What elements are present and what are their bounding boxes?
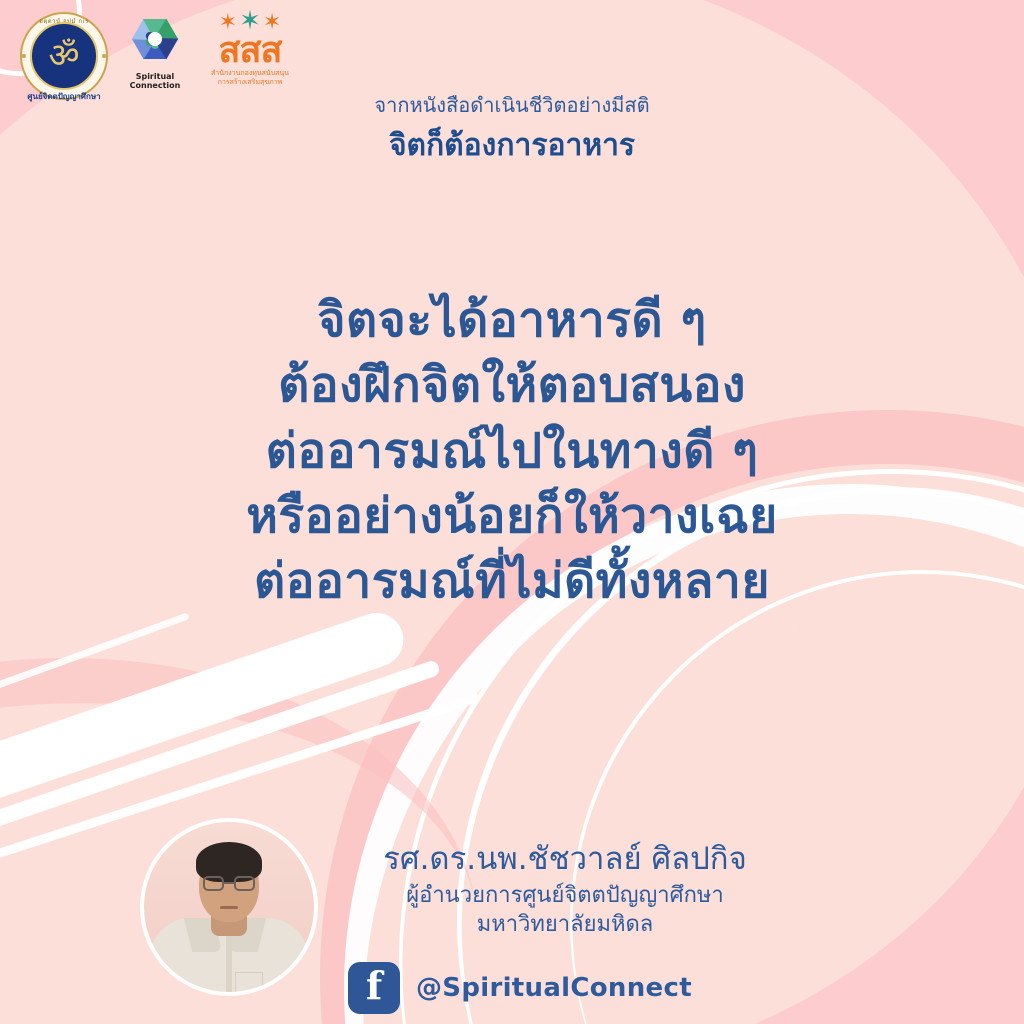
facebook-icon[interactable]: f xyxy=(348,962,400,1014)
speaker-portrait xyxy=(140,818,318,996)
quote-line: ต่ออารมณ์ไปในทางดี ๆ xyxy=(0,419,1024,484)
speaker-role: ผู้อำนวยการศูนย์จิตตปัญญาศึกษา xyxy=(330,881,800,911)
poster-canvas: อตฺตานํ อุปมํ กเร ॐ ศูนย์จิตตปัญญาศึกษา xyxy=(0,0,1024,1024)
portrait-ring xyxy=(140,818,318,996)
quote-line: หรืออย่างน้อยก็ให้วางเฉย xyxy=(0,484,1024,549)
seal-dot-left xyxy=(22,54,26,58)
quote-block: จิตจะได้อาหารดี ๆ ต้องฝึกจิตให้ตอบสนอง ต… xyxy=(0,288,1024,614)
speaker-credit: รศ.ดร.นพ.ชัชวาลย์ ศิลปกิจ ผู้อำนวยการศูน… xyxy=(330,840,800,940)
facebook-handle[interactable]: @SpiritualConnect xyxy=(416,973,692,1003)
spiritual-connection-pinwheel-icon xyxy=(124,8,186,70)
mahidol-university-seal-icon: อตฺตานํ อุปมํ กเร ॐ ศูนย์จิตตปัญญาศึกษา xyxy=(16,8,112,104)
facebook-link[interactable]: f @SpiritualConnect xyxy=(348,962,692,1014)
sc-label-line1: Spiritual xyxy=(130,72,181,81)
thaihealth-wordmark: สสส xyxy=(219,34,282,68)
sc-label-line2: Connection xyxy=(130,81,181,90)
quote-line: ต้องฝึกจิตให้ตอบสนอง xyxy=(0,353,1024,418)
seal-caption: ศูนย์จิตตปัญญาศึกษา xyxy=(16,90,112,103)
seal-dot-right xyxy=(102,54,106,58)
quote-line: จิตจะได้อาหารดี ๆ xyxy=(0,288,1024,353)
thaihealth-subtitle: สำนักงานกองทุนสนับสนุน การสร้างเสริมสุขภ… xyxy=(211,69,289,87)
seal-emblem-icon: ॐ xyxy=(48,39,79,73)
page-title: จิตก็ต้องการอาหาร xyxy=(0,126,1024,165)
seal-inner-disc: ॐ xyxy=(30,22,98,90)
spiritual-connection-label: Spiritual Connection xyxy=(130,72,181,90)
thaihealth-sub-line2: การสร้างเสริมสุขภาพ xyxy=(211,78,289,87)
mahidol-seal-logo: อตฺตานํ อุปมํ กเร ॐ ศูนย์จิตตปัญญาศึกษา xyxy=(16,8,112,104)
thaihealth-logo: ✶ ✶ ✶ สสส สำนักงานกองทุนสนับสนุน การสร้า… xyxy=(198,8,302,108)
pinwheel-svg xyxy=(124,8,186,70)
thaihealth-sub-line1: สำนักงานกองทุนสนับสนุน xyxy=(211,69,289,78)
logo-row: อตฺตานํ อุปมํ กเร ॐ ศูนย์จิตตปัญญาศึกษา xyxy=(16,8,302,108)
speaker-name: รศ.ดร.นพ.ชัชวาลย์ ศิลปกิจ xyxy=(330,840,800,879)
quote-line: ต่ออารมณ์ที่ไม่ดีทั้งหลาย xyxy=(0,549,1024,614)
speaker-organization: มหาวิทยาลัยมหิดล xyxy=(330,910,800,940)
spiritual-connection-logo: Spiritual Connection xyxy=(118,8,192,108)
